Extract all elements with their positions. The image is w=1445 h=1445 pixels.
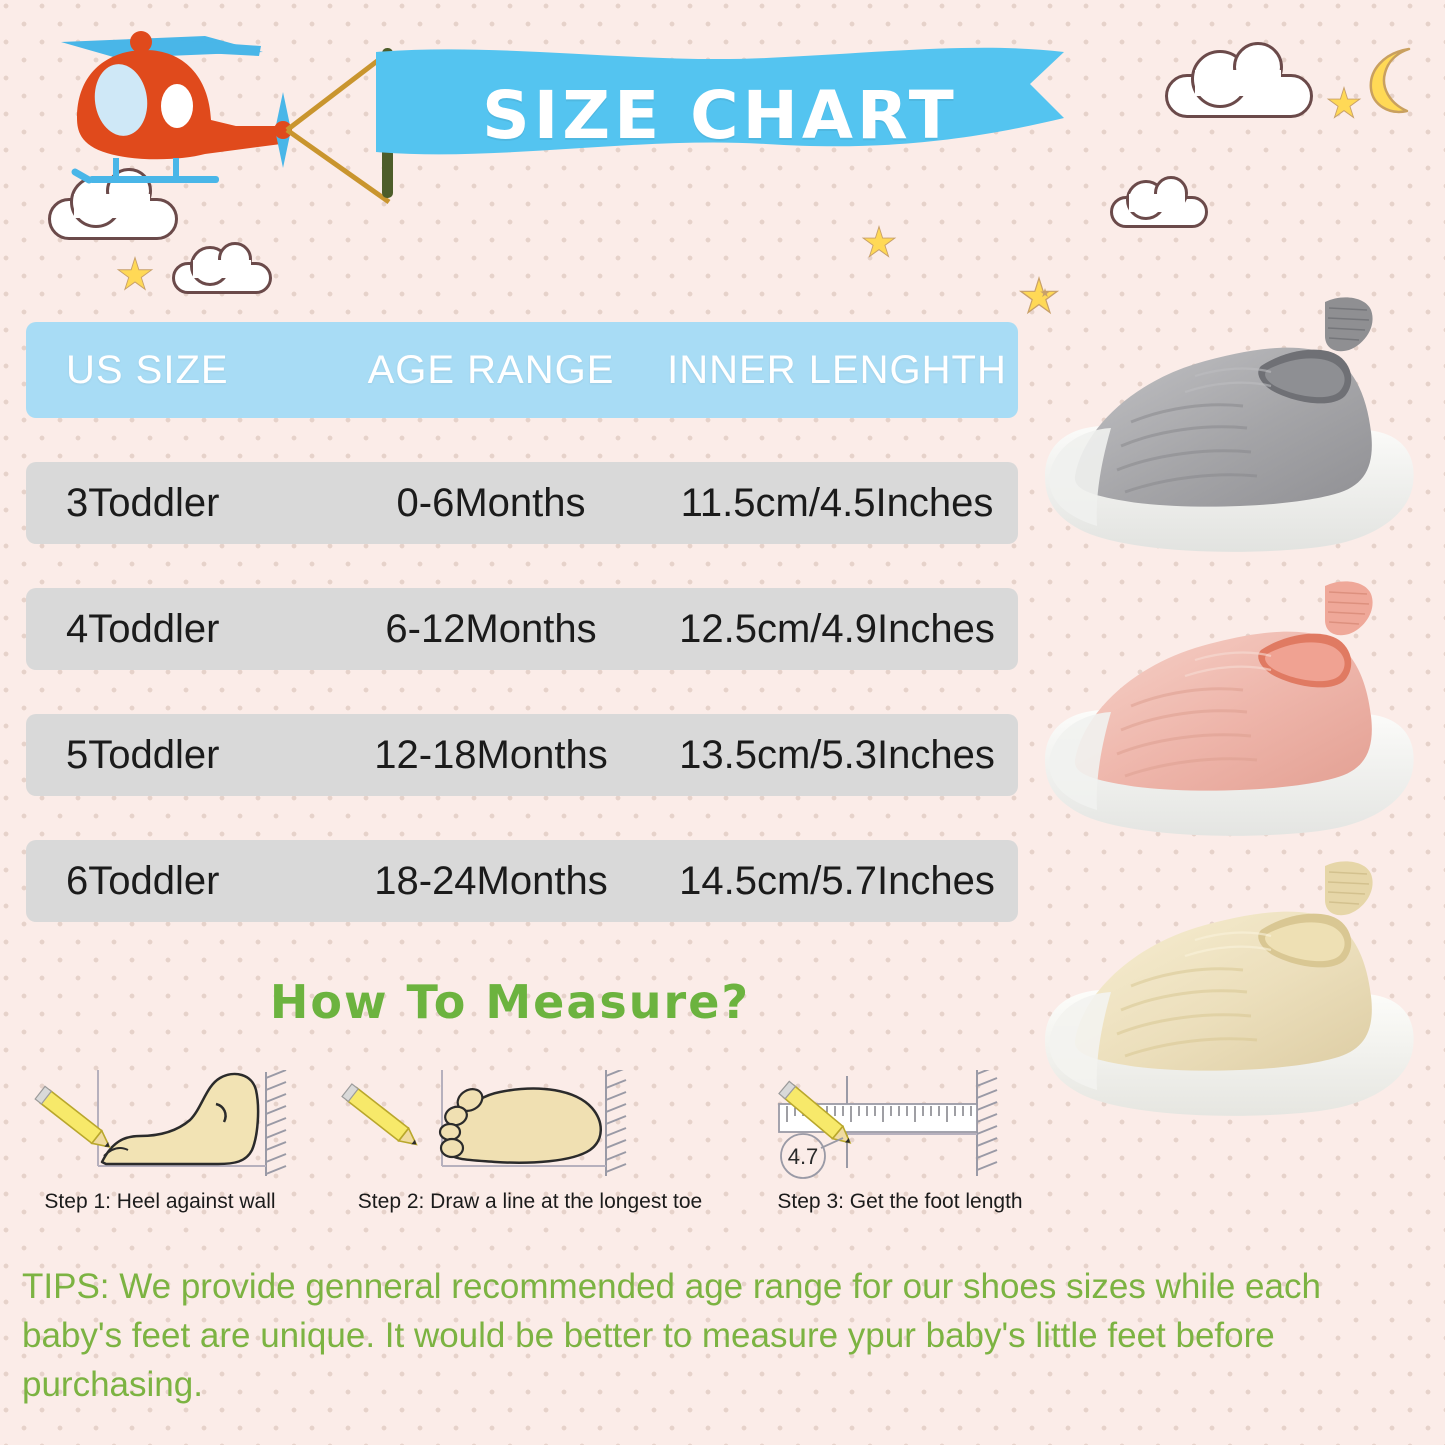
size-table: US SIZE AGE RANGE INNER LENGHTH 3Toddler… [26,322,1018,922]
cloud-icon [1165,74,1313,118]
measure-step-1-caption: Step 1: Heel against wall [20,1190,300,1214]
ruler-reading-value: 4.7 [788,1144,819,1169]
star-icon [861,225,897,261]
cell-us-size: 3Toddler [26,481,326,526]
table-row: 5Toddler 12-18Months 13.5cm/5.3Inches [26,714,1018,796]
size-chart-banner: SIZE CHART [370,40,1070,190]
gray-knit-sneaker [1035,280,1435,570]
how-to-measure-heading: How To Measure? [0,975,1020,1029]
measure-step-3-caption: Step 3: Get the foot length [755,1190,1045,1214]
cell-age-range: 12-18Months [326,733,656,778]
cell-inner-length: 13.5cm/5.3Inches [656,733,1018,778]
size-chart-infographic: SIZE CHART US SIZE AGE RANGE INNER LENGH… [0,0,1445,1445]
helicopter-icon [55,22,415,222]
table-row: 3Toddler 0-6Months 11.5cm/4.5Inches [26,462,1018,544]
star-icon [1326,86,1362,122]
cell-inner-length: 14.5cm/5.7Inches [656,859,1018,904]
beige-knit-sneaker [1035,840,1435,1140]
cell-age-range: 6-12Months [326,607,656,652]
foot-side-view-icon [20,1070,300,1180]
column-header-us-size: US SIZE [26,348,326,393]
cell-age-range: 18-24Months [326,859,656,904]
cell-inner-length: 12.5cm/4.9Inches [656,607,1018,652]
measure-steps: Step 1: Heel against wall [10,1070,1050,1245]
star-icon [864,228,894,258]
measure-step-2: Step 2: Draw a line at the longest toe [320,1070,740,1214]
measure-step-2-caption: Step 2: Draw a line at the longest toe [320,1190,740,1214]
tips-text: TIPS: We provide genneral recommended ag… [22,1262,1422,1409]
column-header-age-range: AGE RANGE [326,348,656,393]
cell-us-size: 4Toddler [26,607,326,652]
crescent-moon-icon [1363,45,1419,115]
table-row: 6Toddler 18-24Months 14.5cm/5.7Inches [26,840,1018,922]
ruler-icon: 4.7 [755,1070,1045,1180]
star-icon [119,259,151,291]
measure-step-3: 4.7 Step 3: Get the foot length [755,1070,1045,1214]
pink-knit-sneaker [1035,560,1435,860]
table-header-row: US SIZE AGE RANGE INNER LENGHTH [26,322,1018,418]
foot-top-view-icon [320,1070,740,1180]
cell-inner-length: 11.5cm/4.5Inches [656,481,1018,526]
star-icon [1329,89,1359,119]
table-row: 4Toddler 6-12Months 12.5cm/4.9Inches [26,588,1018,670]
cell-age-range: 0-6Months [326,481,656,526]
cloud-icon [1110,196,1208,228]
page-title: SIZE CHART [370,40,1070,190]
column-header-inner-length: INNER LENGHTH [656,348,1018,393]
star-icon [116,256,154,294]
measure-step-1: Step 1: Heel against wall [20,1070,300,1214]
cloud-icon [172,262,272,294]
cell-us-size: 5Toddler [26,733,326,778]
cell-us-size: 6Toddler [26,859,326,904]
